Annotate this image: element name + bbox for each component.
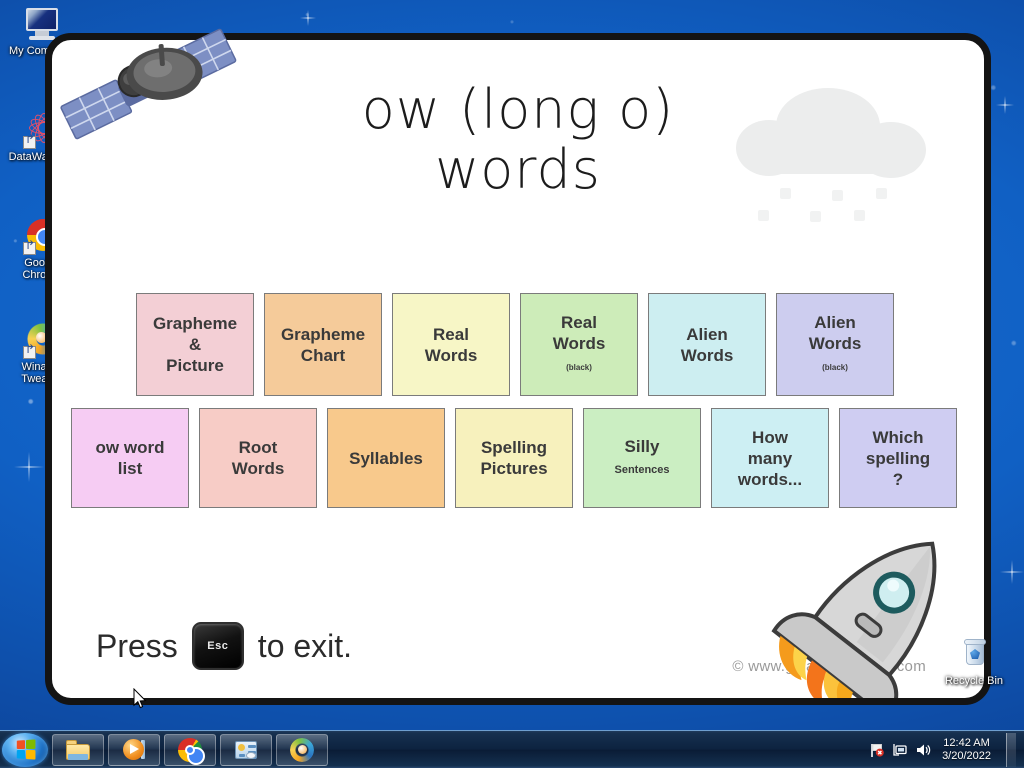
tile-line: Words: [425, 345, 478, 366]
star-sparkle: [14, 452, 44, 482]
tile-line: Words: [232, 458, 285, 479]
activity-row-1: Grapheme & Picture Grapheme Chart Real W…: [136, 293, 894, 396]
taskbar-button-winaero-tweaker[interactable]: [276, 734, 328, 766]
star-sparkle: [1000, 560, 1024, 584]
desktop-icon-recycle-bin[interactable]: Recycle Bin: [936, 636, 1012, 687]
clock-date: 3/20/2022: [942, 750, 991, 763]
shortcut-arrow-icon: [23, 242, 36, 255]
tile-real-words[interactable]: Real Words: [392, 293, 510, 396]
tile-alien-words-black[interactable]: Alien Words (black): [776, 293, 894, 396]
tile-line: Syllables: [349, 448, 423, 469]
windows-logo-icon: [16, 739, 35, 759]
tile-line: Root: [239, 437, 278, 458]
tile-line: Chart: [301, 345, 345, 366]
taskbar-button-windows-explorer[interactable]: [52, 734, 104, 766]
shortcut-arrow-icon: [23, 136, 36, 149]
tile-which-spelling[interactable]: Which spelling ?: [839, 408, 957, 508]
tile-line: &: [189, 334, 201, 355]
tile-syllables[interactable]: Syllables: [327, 408, 445, 508]
tile-real-words-black[interactable]: Real Words (black): [520, 293, 638, 396]
exit-instruction: Press Esc to exit.: [96, 622, 352, 670]
tile-line: words...: [738, 469, 802, 490]
media-player-icon: [121, 737, 147, 763]
start-button[interactable]: [2, 733, 48, 767]
folder-icon: [65, 737, 91, 763]
tile-line: Grapheme: [153, 313, 237, 334]
copyright-text: © www.galacticphonics.com: [732, 658, 926, 675]
tile-sublabel: (black): [822, 357, 848, 378]
title-line-1: ow (long o): [362, 78, 674, 141]
tile-line: Alien: [686, 324, 728, 345]
tile-how-many-words[interactable]: How many words...: [711, 408, 829, 508]
tile-line: Grapheme: [281, 324, 365, 345]
tile-line: ow word: [96, 437, 165, 458]
clock[interactable]: 12:42 AM 3/20/2022: [938, 737, 995, 763]
shortcut-arrow-icon: [23, 346, 36, 359]
tile-line: Alien: [814, 312, 856, 333]
clock-time: 12:42 AM: [942, 737, 991, 750]
desktop-icon-label: Recycle Bin: [936, 675, 1012, 687]
tile-grapheme-and-picture[interactable]: Grapheme & Picture: [136, 293, 254, 396]
exit-prefix-label: Press: [96, 628, 178, 665]
winaero-icon: [289, 737, 315, 763]
tile-line: Which: [873, 427, 924, 448]
tile-spelling-pictures[interactable]: Spelling Pictures: [455, 408, 573, 508]
tile-line: Pictures: [480, 458, 547, 479]
tile-line: Silly: [625, 436, 660, 457]
tile-alien-words[interactable]: Alien Words: [648, 293, 766, 396]
tile-sublabel: Sentences: [614, 460, 669, 481]
exit-suffix-label: to exit.: [258, 628, 352, 665]
tile-line: ?: [893, 469, 903, 490]
show-desktop-button[interactable]: [1006, 733, 1016, 767]
tile-line: Real: [433, 324, 469, 345]
tile-root-words[interactable]: Root Words: [199, 408, 317, 508]
phonics-activity-window: ow (long o) words Grapheme & Picture Gra…: [45, 33, 991, 705]
tile-grapheme-chart[interactable]: Grapheme Chart: [264, 293, 382, 396]
star-sparkle: [996, 96, 1014, 114]
page-title: ow (long o) words: [52, 80, 984, 200]
tile-ow-word-list[interactable]: ow word list: [71, 408, 189, 508]
tile-line: spelling: [866, 448, 930, 469]
my-computer-icon: [24, 6, 60, 42]
system-tray: 12:42 AM 3/20/2022: [869, 733, 1024, 767]
tile-line: Words: [681, 345, 734, 366]
action-center-flag-icon[interactable]: [869, 742, 885, 758]
recycle-bin-icon: [956, 636, 992, 672]
tile-silly-sentences[interactable]: Silly Sentences: [583, 408, 701, 508]
network-icon[interactable]: [892, 742, 908, 758]
tile-line: Words: [809, 333, 862, 354]
taskbar-button-control-panel[interactable]: [220, 734, 272, 766]
control-panel-icon: [233, 737, 259, 763]
taskbar-button-google-chrome[interactable]: [164, 734, 216, 766]
volume-icon[interactable]: [915, 742, 931, 758]
tile-line: many: [748, 448, 792, 469]
tile-line: Picture: [166, 355, 224, 376]
tile-line: Real: [561, 312, 597, 333]
tile-line: How: [752, 427, 788, 448]
esc-key-icon: Esc: [192, 622, 244, 670]
taskbar-button-windows-media-player[interactable]: [108, 734, 160, 766]
title-line-2: words: [52, 140, 984, 200]
esc-key-label: Esc: [207, 640, 228, 652]
tile-sublabel: (black): [566, 357, 592, 378]
tile-line: list: [118, 458, 143, 479]
star-sparkle: [300, 10, 316, 26]
chrome-icon: [177, 737, 203, 763]
taskbar: 12:42 AM 3/20/2022: [0, 730, 1024, 768]
tile-line: Spelling: [481, 437, 547, 458]
mouse-cursor: [133, 688, 147, 709]
activity-row-2: ow word list Root Words Syllables Spelli…: [71, 408, 957, 508]
tile-line: Words: [553, 333, 606, 354]
